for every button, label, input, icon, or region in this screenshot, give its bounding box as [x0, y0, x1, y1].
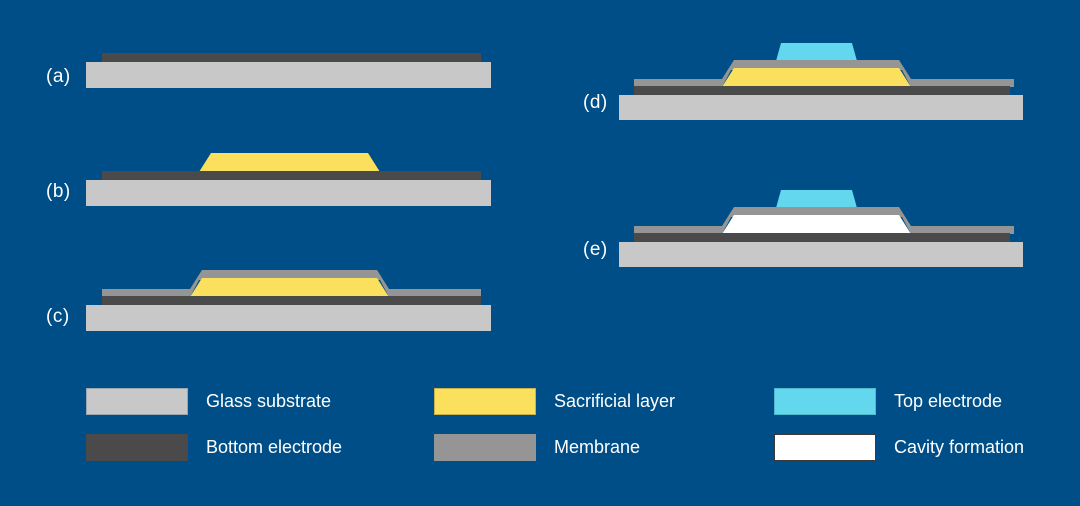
legend-label-cavity-formation: Cavity formation [894, 437, 1024, 458]
panel-a-glass-substrate [86, 62, 491, 88]
legend-item-bottom-electrode: Bottom electrode [86, 424, 342, 470]
panel-label-b: (b) [46, 181, 71, 203]
panel-label-c: (c) [46, 306, 70, 328]
panel-label-e: (e) [583, 239, 608, 261]
legend-label-membrane: Membrane [554, 437, 640, 458]
panel-d-bottom-electrode [634, 86, 1010, 96]
panel-d-graphic [619, 43, 1023, 120]
panel-b-glass-substrate [86, 180, 491, 206]
panel-b-bottom-electrode [102, 171, 481, 181]
panel-d-top-electrode [776, 43, 857, 61]
panel-e-glass-substrate [619, 242, 1023, 267]
panel-a-graphic [86, 53, 491, 88]
panel-b-sacrificial-layer [199, 153, 380, 172]
legend-item-top-electrode: Top electrode [774, 378, 1024, 424]
panel-label-d: (d) [583, 92, 608, 114]
legend-label-glass-substrate: Glass substrate [206, 391, 331, 412]
panel-d-membrane [634, 60, 1014, 87]
figure-canvas: (a) (b) (c) (d) (e) Glass substrate Bott… [0, 0, 1080, 506]
panel-c-membrane [102, 270, 481, 297]
panel-e-membrane [634, 207, 1014, 234]
sacrificial-layer-swatch [434, 388, 536, 415]
legend-item-glass-substrate: Glass substrate [86, 378, 342, 424]
legend: Glass substrate Bottom electrode Sacrifi… [0, 378, 1080, 478]
panel-e-cavity [722, 215, 911, 234]
panel-c-bottom-electrode [102, 296, 481, 306]
legend-item-sacrificial-layer: Sacrificial layer [434, 378, 675, 424]
legend-label-sacrificial-layer: Sacrificial layer [554, 391, 675, 412]
legend-item-cavity-formation: Cavity formation [774, 424, 1024, 470]
membrane-swatch [434, 434, 536, 461]
panel-b-graphic [86, 153, 491, 206]
legend-column-1: Glass substrate Bottom electrode [86, 378, 342, 470]
panel-a-bottom-electrode [102, 53, 481, 63]
cavity-formation-swatch [774, 434, 876, 461]
panel-c-sacrificial-layer [190, 278, 389, 297]
top-electrode-swatch [774, 388, 876, 415]
panel-e-bottom-electrode [634, 233, 1010, 243]
panel-c-glass-substrate [86, 305, 491, 331]
panel-d-sacrificial-layer [722, 68, 911, 87]
legend-label-bottom-electrode: Bottom electrode [206, 437, 342, 458]
legend-column-3: Top electrode Cavity formation [774, 378, 1024, 470]
glass-substrate-swatch [86, 388, 188, 415]
legend-label-top-electrode: Top electrode [894, 391, 1002, 412]
panel-e-top-electrode [776, 190, 857, 208]
bottom-electrode-swatch [86, 434, 188, 461]
legend-item-membrane: Membrane [434, 424, 675, 470]
panel-c-graphic [86, 270, 491, 331]
legend-column-2: Sacrificial layer Membrane [434, 378, 675, 470]
panel-e-graphic [619, 190, 1023, 267]
panel-d-glass-substrate [619, 95, 1023, 120]
panel-label-a: (a) [46, 66, 71, 88]
